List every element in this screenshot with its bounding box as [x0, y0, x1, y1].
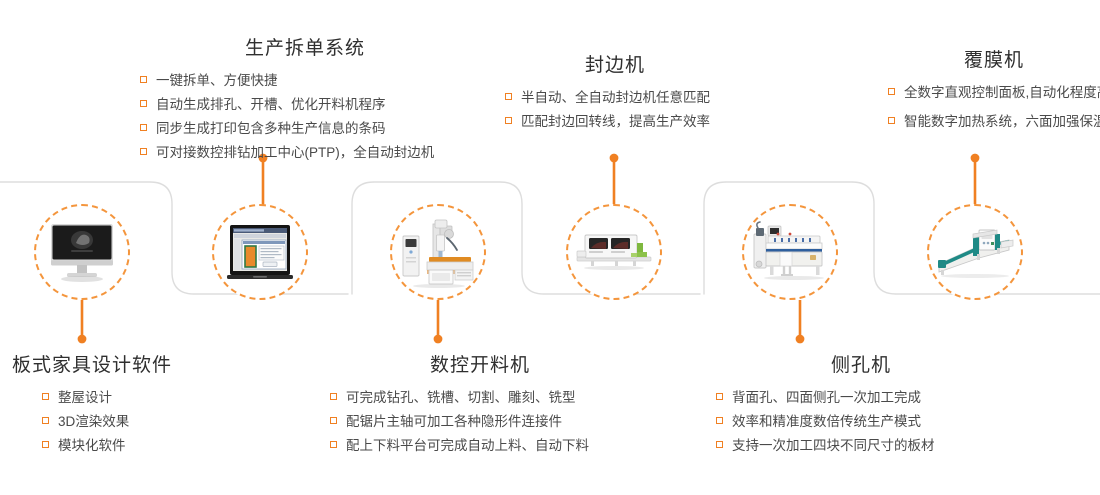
- list-item: 可完成钻孔、铣槽、切割、雕刻、铣型: [330, 387, 630, 408]
- bullet-list-cnc-cutting: 可完成钻孔、铣槽、切割、雕刻、铣型 配锯片主轴可加工各种隐形件连接件 配上下料平…: [330, 387, 630, 456]
- block-title-edge-banding: 封边机: [505, 55, 725, 78]
- square-bullet-icon: [140, 148, 147, 155]
- block-title-side-hole: 侧孔机: [716, 355, 1006, 378]
- block-title-cnc-cutting: 数控开料机: [330, 355, 630, 378]
- bullet-list-design-software: 整屋设计 3D渲染效果 模块化软件: [42, 387, 312, 456]
- square-bullet-icon: [42, 441, 49, 448]
- bullet-text: 可完成钻孔、铣槽、切割、雕刻、铣型: [346, 390, 576, 405]
- stem-dot-design: [78, 335, 87, 344]
- list-item: 可对接数控排钻加工中心(PTP)，全自动封边机: [140, 142, 470, 163]
- bullet-text: 效率和精准度数倍传统生产模式: [732, 414, 921, 429]
- block-design-software: 板式家具设计软件 整屋设计 3D渲染效果 模块化软件: [12, 355, 312, 459]
- list-item: 智能数字加热系统，六面加强保温: [888, 111, 1100, 132]
- square-bullet-icon: [505, 117, 512, 124]
- stem-dot-group-down: [78, 335, 805, 344]
- bullet-text: 配锯片主轴可加工各种隐形件连接件: [346, 414, 562, 429]
- block-cnc-cutting: 数控开料机 可完成钻孔、铣槽、切割、雕刻、铣型 配锯片主轴可加工各种隐形件连接件…: [330, 355, 630, 459]
- bullet-text: 背面孔、四面侧孔一次加工完成: [732, 390, 921, 405]
- list-item: 模块化软件: [42, 435, 312, 456]
- bullet-text: 自动生成排孔、开槽、优化开料机程序: [156, 97, 386, 112]
- stem-dot-cnc: [434, 335, 443, 344]
- bullet-list-laminating: 全数字直观控制面板,自动化程度高 智能数字加热系统，六面加强保温: [888, 82, 1100, 132]
- square-bullet-icon: [42, 417, 49, 424]
- bullet-text: 全数字直观控制面板,自动化程度高: [904, 85, 1100, 100]
- bullet-list-splitting-system: 一键拆单、方便快捷 自动生成排孔、开槽、优化开料机程序 同步生成打印包含多种生产…: [140, 70, 470, 163]
- list-item: 支持一次加工四块不同尺寸的板材: [716, 435, 1006, 456]
- bullet-text: 可对接数控排钻加工中心(PTP)，全自动封边机: [156, 145, 434, 160]
- list-item: 配锯片主轴可加工各种隐形件连接件: [330, 411, 630, 432]
- node-cnc-cutting[interactable]: [390, 204, 486, 300]
- square-bullet-icon: [716, 417, 723, 424]
- bullet-text: 支持一次加工四块不同尺寸的板材: [732, 438, 935, 453]
- list-item: 背面孔、四面侧孔一次加工完成: [716, 387, 1006, 408]
- block-edge-banding: 封边机 半自动、全自动封边机任意匹配 匹配封边回转线，提高生产效率: [505, 55, 725, 135]
- list-item: 整屋设计: [42, 387, 312, 408]
- square-bullet-icon: [140, 100, 147, 107]
- stem-dot-sidehole: [796, 335, 805, 344]
- block-laminating: 覆膜机 全数字直观控制面板,自动化程度高 智能数字加热系统，六面加强保温: [888, 50, 1100, 135]
- node-splitting-system[interactable]: [212, 204, 308, 300]
- node-design-software[interactable]: [34, 204, 130, 300]
- bullet-text: 整屋设计: [58, 390, 112, 405]
- stem-dot-edgebanding: [610, 154, 619, 163]
- bullet-text: 配上下料平台可完成自动上料、自动下料: [346, 438, 589, 453]
- bullet-text: 半自动、全自动封边机任意匹配: [521, 90, 710, 105]
- bullet-list-side-hole: 背面孔、四面侧孔一次加工完成 效率和精准度数倍传统生产模式 支持一次加工四块不同…: [716, 387, 1006, 456]
- edge-banding-machine-icon: [575, 213, 653, 291]
- bullet-text: 3D渲染效果: [58, 414, 129, 429]
- list-item: 全数字直观控制面板,自动化程度高: [888, 82, 1100, 103]
- square-bullet-icon: [330, 417, 337, 424]
- stem-group-down: [82, 300, 800, 336]
- laminating-machine-icon: [936, 213, 1014, 291]
- side-hole-drill-icon: [751, 213, 829, 291]
- node-side-hole[interactable]: [742, 204, 838, 300]
- square-bullet-icon: [716, 441, 723, 448]
- bullet-text: 同步生成打印包含多种生产信息的条码: [156, 121, 386, 136]
- list-item: 3D渲染效果: [42, 411, 312, 432]
- laptop-software-icon: [221, 213, 299, 291]
- infographic-canvas: 生产拆单系统 一键拆单、方便快捷 自动生成排孔、开槽、优化开料机程序 同步生成打…: [0, 0, 1100, 495]
- square-bullet-icon: [505, 93, 512, 100]
- square-bullet-icon: [42, 393, 49, 400]
- stem-dot-laminating: [971, 154, 980, 163]
- bullet-text: 一键拆单、方便快捷: [156, 73, 278, 88]
- bullet-text: 模块化软件: [58, 438, 126, 453]
- list-item: 匹配封边回转线，提高生产效率: [505, 111, 725, 132]
- square-bullet-icon: [888, 117, 895, 124]
- square-bullet-icon: [140, 76, 147, 83]
- bullet-list-edge-banding: 半自动、全自动封边机任意匹配 匹配封边回转线，提高生产效率: [505, 87, 725, 132]
- square-bullet-icon: [330, 441, 337, 448]
- list-item: 同步生成打印包含多种生产信息的条码: [140, 118, 470, 139]
- list-item: 效率和精准度数倍传统生产模式: [716, 411, 1006, 432]
- bullet-text: 智能数字加热系统，六面加强保温: [904, 114, 1100, 129]
- list-item: 半自动、全自动封边机任意匹配: [505, 87, 725, 108]
- square-bullet-icon: [716, 393, 723, 400]
- square-bullet-icon: [888, 88, 895, 95]
- block-title-splitting-system: 生产拆单系统: [140, 38, 470, 61]
- block-side-hole: 侧孔机 背面孔、四面侧孔一次加工完成 效率和精准度数倍传统生产模式 支持一次加工…: [716, 355, 1006, 459]
- block-title-design-software: 板式家具设计软件: [12, 355, 312, 378]
- block-title-laminating: 覆膜机: [888, 50, 1100, 73]
- block-splitting-system: 生产拆单系统 一键拆单、方便快捷 自动生成排孔、开槽、优化开料机程序 同步生成打…: [140, 38, 470, 166]
- square-bullet-icon: [140, 124, 147, 131]
- list-item: 一键拆单、方便快捷: [140, 70, 470, 91]
- node-edge-banding[interactable]: [566, 204, 662, 300]
- cnc-router-machine-icon: [399, 213, 477, 291]
- bullet-text: 匹配封边回转线，提高生产效率: [521, 114, 710, 129]
- list-item: 配上下料平台可完成自动上料、自动下料: [330, 435, 630, 456]
- square-bullet-icon: [330, 393, 337, 400]
- node-laminating[interactable]: [927, 204, 1023, 300]
- list-item: 自动生成排孔、开槽、优化开料机程序: [140, 94, 470, 115]
- imac-monitor-icon: [43, 213, 121, 291]
